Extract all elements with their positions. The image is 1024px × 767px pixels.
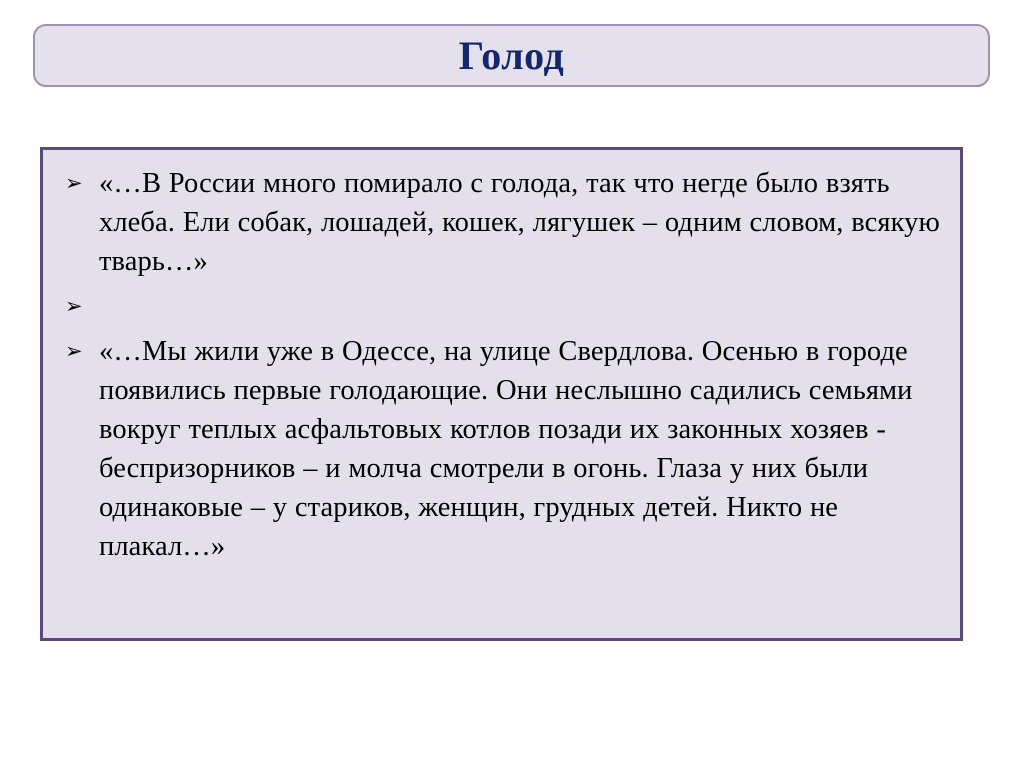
list-item-text: «…Мы жили уже в Одессе, на улице Свердло…: [99, 332, 944, 566]
bullet-list: ➢ «…В России много помирало с голода, та…: [55, 164, 944, 566]
list-item: ➢ «…Мы жили уже в Одессе, на улице Сверд…: [55, 332, 944, 566]
arrowhead-bullet-icon: ➢: [55, 332, 99, 371]
slide-title-box: Голод: [33, 24, 990, 87]
page-title: Голод: [459, 36, 564, 76]
arrowhead-bullet-icon: ➢: [55, 287, 99, 326]
presentation-slide: Голод ➢ «…В России много помирало с голо…: [0, 0, 1024, 767]
list-item: ➢ «…В России много помирало с голода, та…: [55, 164, 944, 281]
list-item-text: [99, 287, 944, 326]
list-item: ➢: [55, 287, 944, 326]
arrowhead-bullet-icon: ➢: [55, 164, 99, 203]
slide-content-box: ➢ «…В России много помирало с голода, та…: [40, 147, 963, 641]
list-item-text: «…В России много помирало с голода, так …: [99, 164, 944, 281]
